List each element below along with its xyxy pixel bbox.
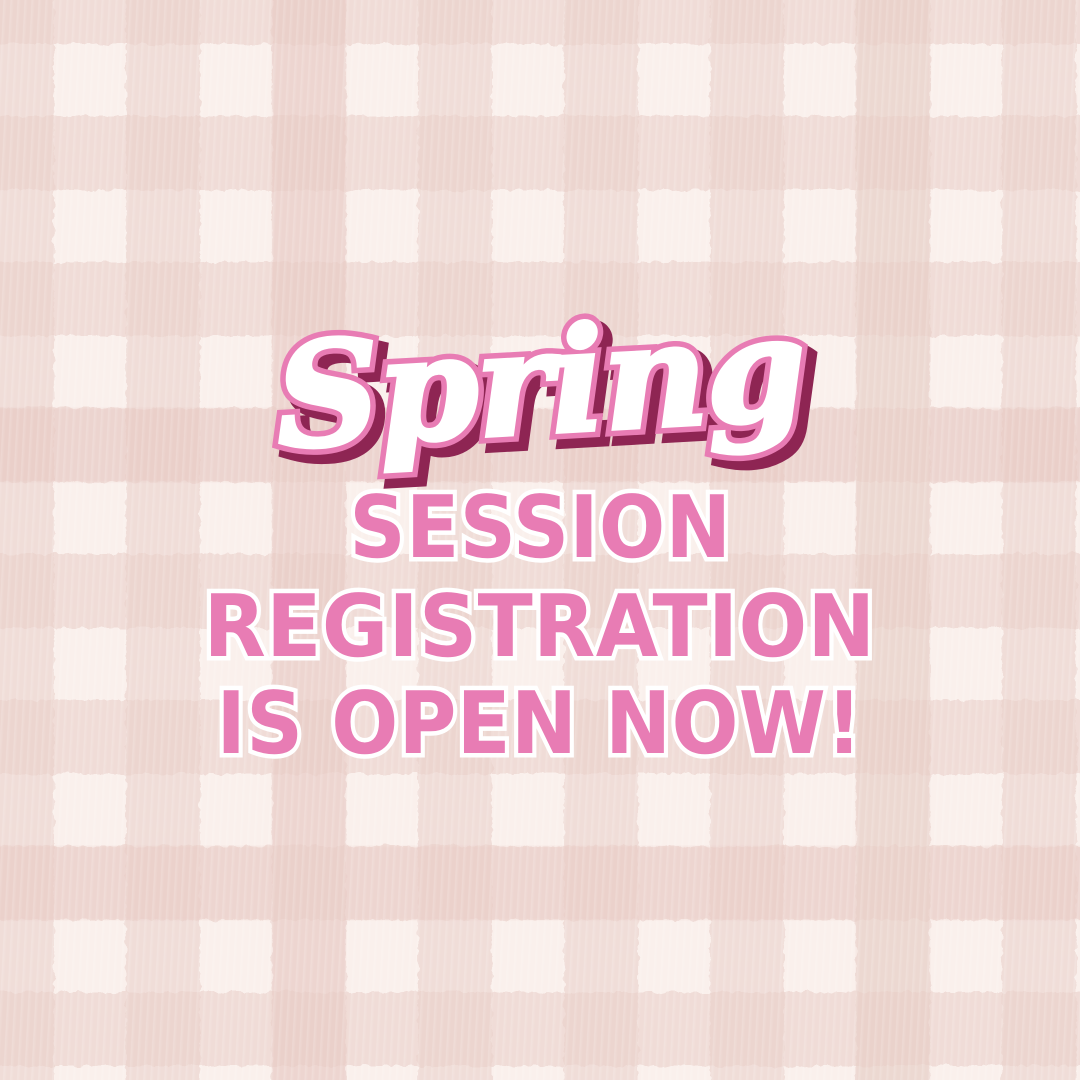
headline-line-3: IS OPEN NOW!	[217, 683, 863, 766]
script-heading-core-layer: Spring	[271, 284, 808, 482]
headline-line-1: SESSION	[349, 487, 731, 570]
headline-line-2: REGISTRATION	[204, 586, 876, 669]
script-heading: Spring Spring Spring	[0, 268, 1080, 498]
poster-canvas: Spring Spring Spring SESSION REGISTRATIO…	[0, 0, 1080, 1080]
headline-block: SESSION REGISTRATION IS OPEN NOW!	[0, 487, 1080, 766]
script-heading-word: Spring Spring Spring	[272, 297, 808, 470]
poster-content: Spring Spring Spring SESSION REGISTRATIO…	[0, 0, 1080, 1080]
